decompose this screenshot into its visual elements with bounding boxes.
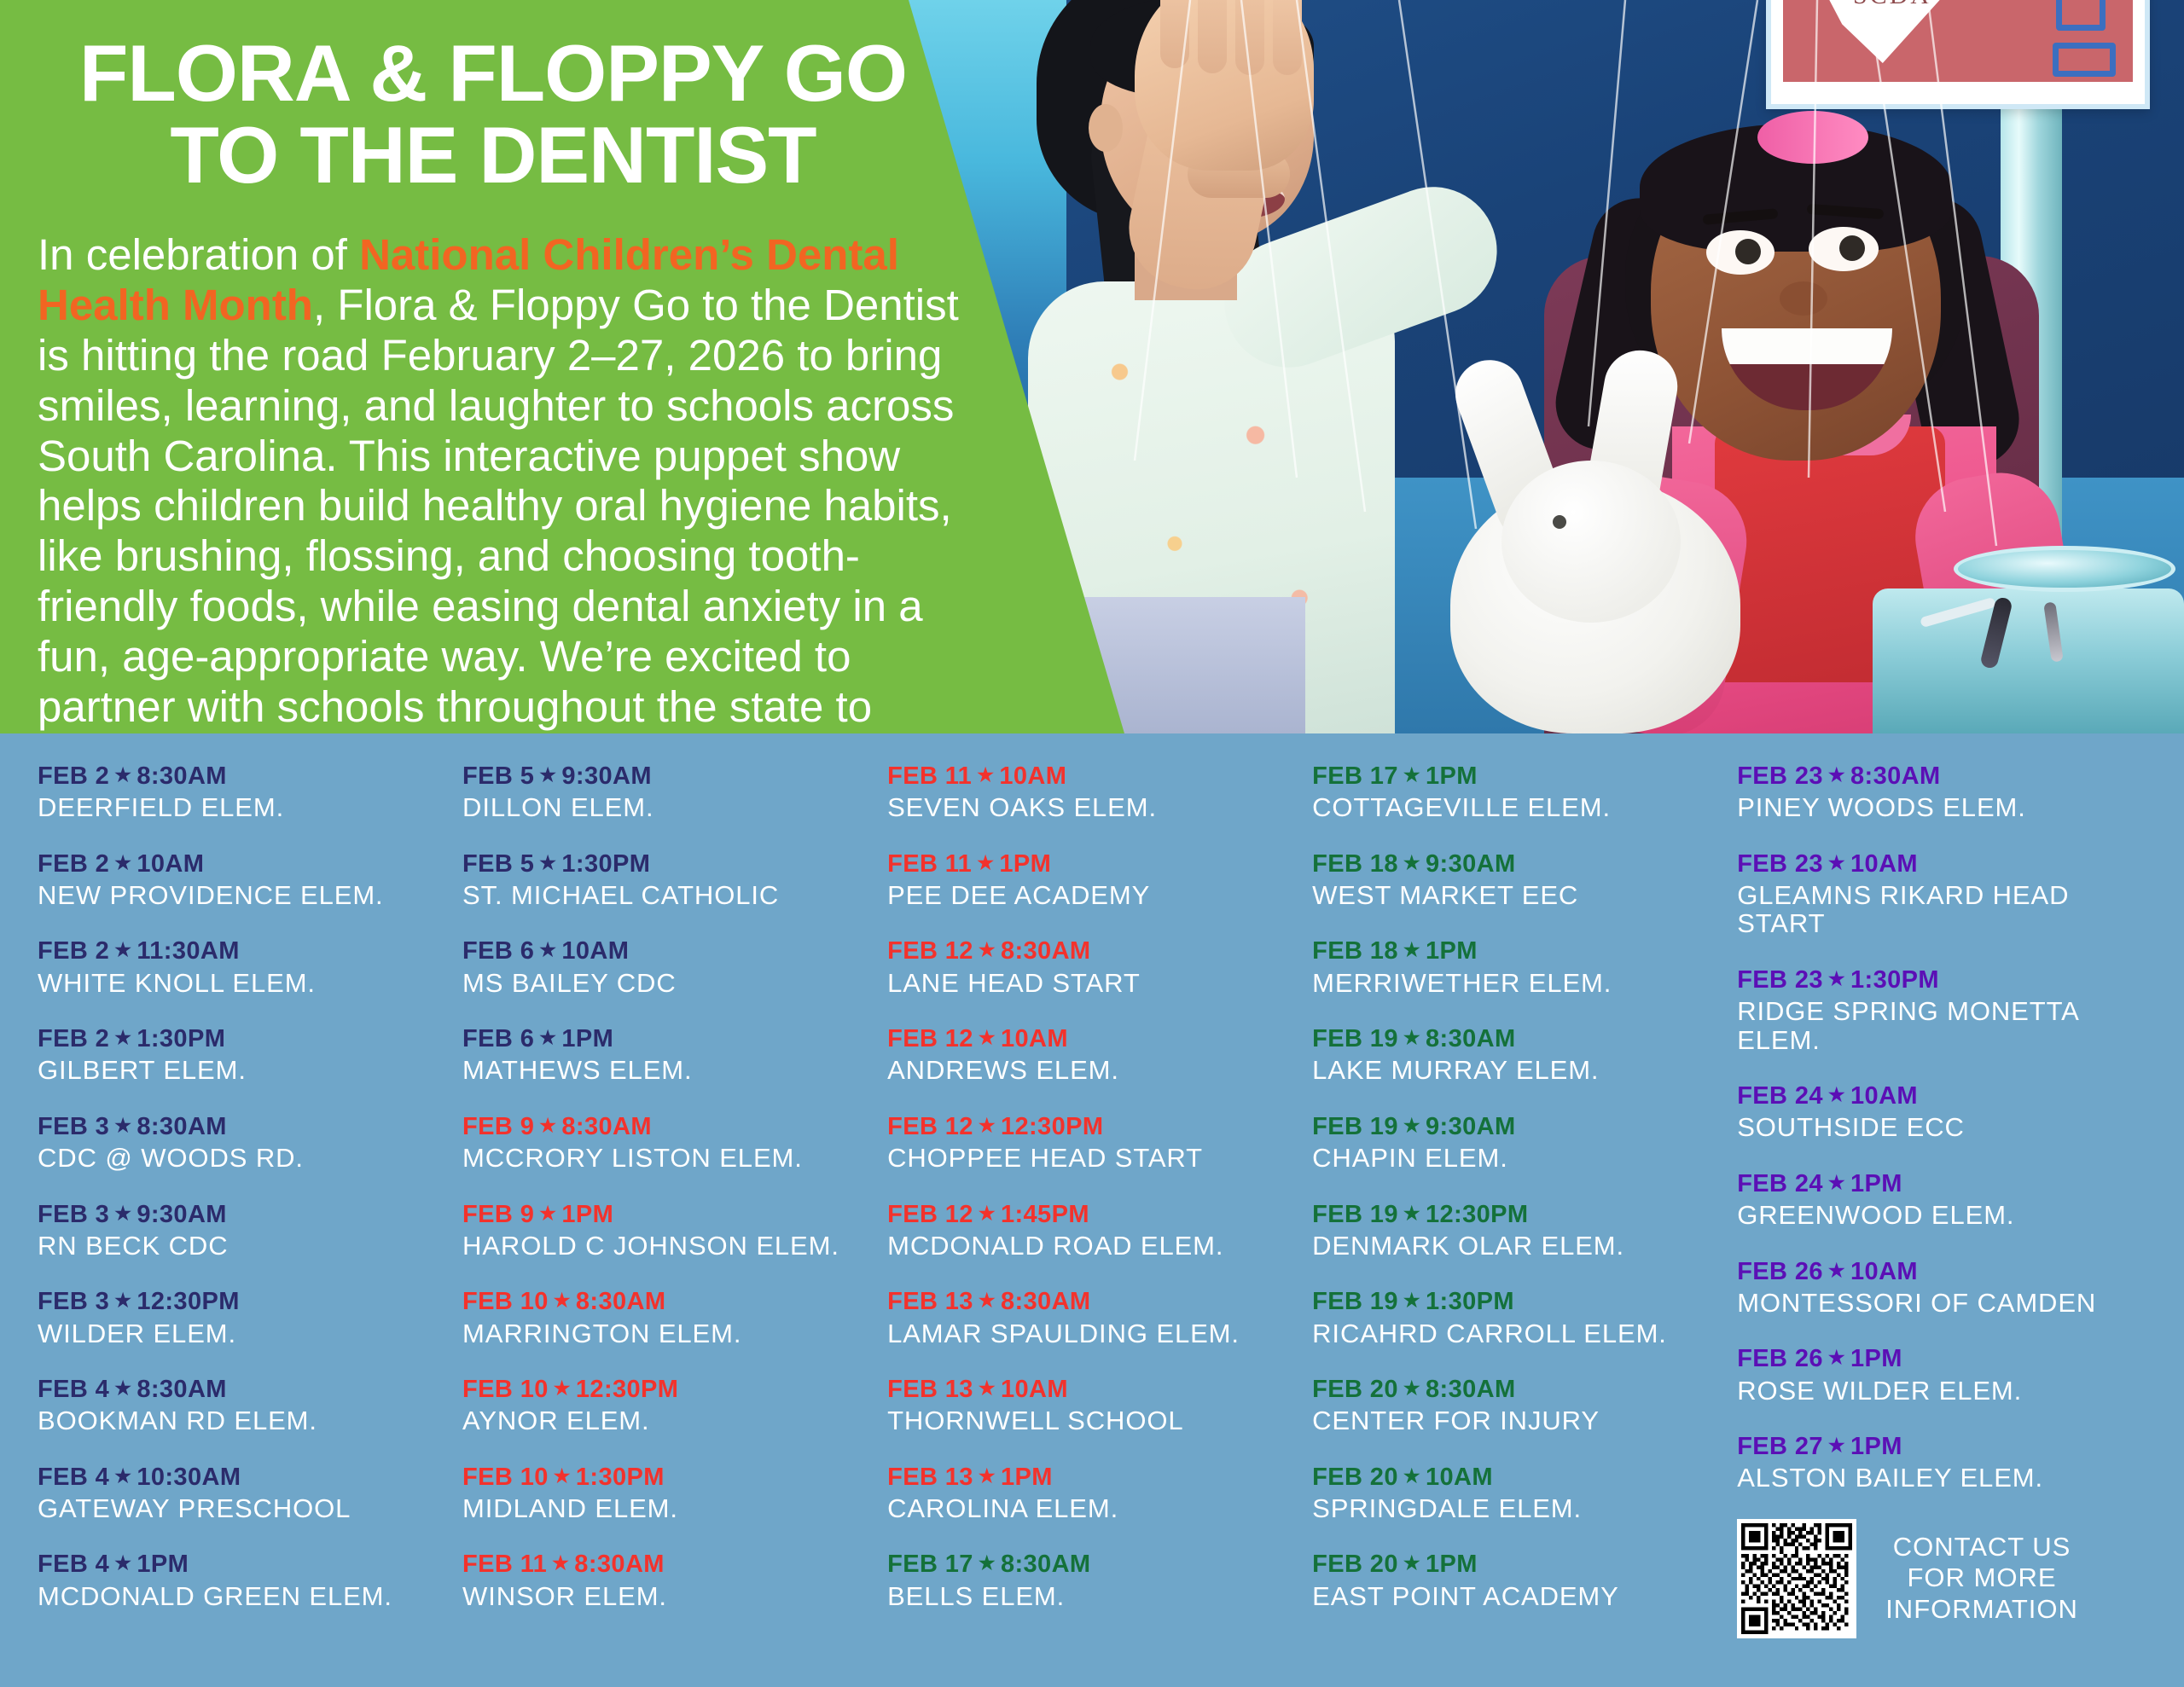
event-venue: MS BAILEY CDC: [462, 969, 863, 997]
event-datetime: FEB 13★10AM: [887, 1374, 1288, 1405]
star-separator-icon: ★: [109, 1465, 136, 1487]
event-time: 10AM: [1001, 1025, 1068, 1052]
event-date: FEB 26: [1737, 1258, 1823, 1285]
event-datetime: FEB 3★12:30PM: [38, 1286, 439, 1317]
event-datetime: FEB 4★10:30AM: [38, 1462, 439, 1493]
event-time: 9:30AM: [1426, 850, 1516, 878]
event-time: 8:30AM: [136, 1113, 227, 1140]
star-separator-icon: ★: [973, 1027, 1001, 1048]
event-time: 10AM: [999, 762, 1066, 790]
event-date: FEB 19: [1312, 1201, 1398, 1228]
event-venue: BOOKMAN RD ELEM.: [38, 1406, 439, 1435]
event-time: 8:30AM: [1001, 1551, 1091, 1578]
star-separator-icon: ★: [973, 1203, 1001, 1224]
event-venue: GREENWOOD ELEM.: [1737, 1201, 2146, 1229]
event-date: FEB 24: [1737, 1082, 1823, 1110]
event-date: FEB 4: [38, 1551, 109, 1578]
star-separator-icon: ★: [973, 1115, 1001, 1136]
event-datetime: FEB 9★1PM: [462, 1199, 863, 1230]
star-separator-icon: ★: [109, 764, 136, 786]
star-separator-icon: ★: [534, 1115, 561, 1136]
event-datetime: FEB 3★8:30AM: [38, 1111, 439, 1142]
star-separator-icon: ★: [534, 852, 561, 873]
event-date: FEB 4: [38, 1464, 109, 1491]
event-time: 8:30AM: [1426, 1376, 1516, 1403]
event-time: 1PM: [1001, 1464, 1053, 1491]
schedule-event: FEB 4★1PMMCDONALD GREEN ELEM.: [38, 1549, 439, 1610]
event-time: 8:30AM: [136, 762, 227, 790]
event-datetime: FEB 6★10AM: [462, 936, 863, 966]
event-time: 1:30PM: [576, 1464, 665, 1491]
event-venue: DEERFIELD ELEM.: [38, 793, 439, 821]
event-date: FEB 2: [38, 1025, 109, 1052]
star-separator-icon: ★: [109, 1377, 136, 1399]
event-datetime: FEB 6★1PM: [462, 1023, 863, 1054]
star-separator-icon: ★: [1398, 1377, 1426, 1399]
event-datetime: FEB 13★8:30AM: [887, 1286, 1288, 1317]
event-datetime: FEB 23★8:30AM: [1737, 761, 2146, 791]
event-datetime: FEB 19★12:30PM: [1312, 1199, 1713, 1230]
star-separator-icon: ★: [1398, 852, 1426, 873]
event-venue: RN BECK CDC: [38, 1232, 439, 1260]
star-separator-icon: ★: [109, 1290, 136, 1311]
event-time: 8:30AM: [561, 1113, 652, 1140]
event-datetime: FEB 24★1PM: [1737, 1168, 2146, 1199]
star-separator-icon: ★: [1398, 1115, 1426, 1136]
event-venue: DILLON ELEM.: [462, 793, 863, 821]
event-datetime: FEB 4★1PM: [38, 1549, 439, 1580]
schedule-event: FEB 11★8:30AMWINSOR ELEM.: [462, 1549, 863, 1610]
star-separator-icon: ★: [549, 1377, 576, 1399]
event-venue: CDC @ WOODS RD.: [38, 1144, 439, 1172]
schedule-event: FEB 5★9:30AMDILLON ELEM.: [462, 761, 863, 822]
event-venue: BELLS ELEM.: [887, 1582, 1288, 1610]
event-venue: GLEAMNS RIKARD HEAD START: [1737, 881, 2146, 938]
event-datetime: FEB 3★9:30AM: [38, 1199, 439, 1230]
schedule-event: FEB 23★1:30PMRIDGE SPRING MONETTA ELEM.: [1737, 965, 2146, 1054]
event-date: FEB 19: [1312, 1025, 1398, 1052]
event-time: 9:30AM: [1426, 1113, 1516, 1140]
event-date: FEB 23: [1737, 966, 1823, 994]
event-datetime: FEB 12★10AM: [887, 1023, 1288, 1054]
intro-text-rest: , Flora & Floppy Go to the Dentist is hi…: [38, 281, 959, 733]
event-datetime: FEB 17★1PM: [1312, 761, 1713, 791]
star-separator-icon: ★: [972, 764, 999, 786]
schedule-event: FEB 4★10:30AMGATEWAY PRESCHOOL: [38, 1462, 439, 1523]
event-time: 1PM: [1426, 937, 1478, 965]
event-date: FEB 2: [38, 850, 109, 878]
event-date: FEB 4: [38, 1376, 109, 1403]
event-datetime: FEB 10★1:30PM: [462, 1462, 863, 1493]
event-datetime: FEB 27★1PM: [1737, 1431, 2146, 1462]
contact-line-2: FOR MORE: [1885, 1562, 2078, 1594]
event-datetime: FEB 9★8:30AM: [462, 1111, 863, 1142]
event-venue: LANE HEAD START: [887, 969, 1288, 997]
event-time: 8:30AM: [1850, 762, 1941, 790]
event-time: 1PM: [1850, 1433, 1902, 1460]
event-venue: MATHEWS ELEM.: [462, 1056, 863, 1084]
schedule-event: FEB 24★1PMGREENWOOD ELEM.: [1737, 1168, 2146, 1230]
event-date: FEB 20: [1312, 1551, 1398, 1578]
event-date: FEB 9: [462, 1201, 534, 1228]
star-separator-icon: ★: [109, 1203, 136, 1224]
event-date: FEB 2: [38, 937, 109, 965]
event-time: 8:30AM: [136, 1376, 227, 1403]
event-time: 1PM: [561, 1201, 613, 1228]
event-time: 12:30PM: [576, 1376, 678, 1403]
schedule-event: FEB 2★1:30PMGILBERT ELEM.: [38, 1023, 439, 1085]
star-separator-icon: ★: [973, 1290, 1001, 1311]
event-venue: LAMAR SPAULDING ELEM.: [887, 1319, 1288, 1348]
event-time: 10:30AM: [136, 1464, 241, 1491]
event-venue: ALSTON BAILEY ELEM.: [1737, 1464, 2146, 1492]
event-date: FEB 27: [1737, 1433, 1823, 1460]
star-separator-icon: ★: [549, 1290, 576, 1311]
event-time: 12:30PM: [1426, 1201, 1528, 1228]
star-separator-icon: ★: [1398, 1203, 1426, 1224]
event-time: 8:30AM: [576, 1288, 666, 1315]
schedule-event: FEB 17★1PMCOTTAGEVILLE ELEM.: [1312, 761, 1713, 822]
event-datetime: FEB 18★1PM: [1312, 936, 1713, 966]
event-venue: WHITE KNOLL ELEM.: [38, 969, 439, 997]
event-time: 1PM: [561, 1025, 613, 1052]
event-date: FEB 18: [1312, 937, 1398, 965]
schedule-event: FEB 10★8:30AMMARRINGTON ELEM.: [462, 1286, 863, 1348]
event-venue: COTTAGEVILLE ELEM.: [1312, 793, 1713, 821]
star-separator-icon: ★: [1823, 1260, 1850, 1281]
event-venue: SEVEN OAKS ELEM.: [887, 793, 1288, 821]
star-separator-icon: ★: [109, 852, 136, 873]
event-time: 8:30AM: [1001, 937, 1091, 965]
event-time: 12:30PM: [1001, 1113, 1103, 1140]
star-separator-icon: ★: [1823, 1435, 1850, 1456]
schedule-column-5: FEB 23★8:30AMPINEY WOODS ELEM.FEB 23★10A…: [1725, 761, 2158, 1687]
event-datetime: FEB 12★1:45PM: [887, 1199, 1288, 1230]
event-venue: WILDER ELEM.: [38, 1319, 439, 1348]
event-datetime: FEB 26★10AM: [1737, 1256, 2146, 1287]
event-venue: ST. MICHAEL CATHOLIC: [462, 881, 863, 909]
event-venue: MIDLAND ELEM.: [462, 1494, 863, 1522]
schedule-column-4: FEB 17★1PMCOTTAGEVILLE ELEM.FEB 18★9:30A…: [1300, 761, 1725, 1687]
star-separator-icon: ★: [1398, 939, 1426, 960]
event-datetime: FEB 11★1PM: [887, 849, 1288, 879]
event-time: 10AM: [561, 937, 629, 965]
schedule-column-3: FEB 11★10AMSEVEN OAKS ELEM.FEB 11★1PMPEE…: [875, 761, 1300, 1687]
schedule-event: FEB 2★8:30AMDEERFIELD ELEM.: [38, 761, 439, 822]
schedule-event: FEB 19★1:30PMRICAHRD CARROLL ELEM.: [1312, 1286, 1713, 1348]
schedule-event: FEB 23★8:30AMPINEY WOODS ELEM.: [1737, 761, 2146, 822]
event-time: 1PM: [1426, 1551, 1478, 1578]
event-date: FEB 20: [1312, 1464, 1398, 1491]
event-date: FEB 13: [887, 1464, 973, 1491]
star-separator-icon: ★: [1823, 852, 1850, 873]
hero-section: SCDA: [0, 0, 2184, 733]
event-datetime: FEB 2★10AM: [38, 849, 439, 879]
event-date: FEB 12: [887, 1201, 973, 1228]
event-time: 8:30AM: [1001, 1288, 1091, 1315]
star-separator-icon: ★: [109, 939, 136, 960]
event-venue: CENTER FOR INJURY: [1312, 1406, 1713, 1435]
event-datetime: FEB 10★8:30AM: [462, 1286, 863, 1317]
event-datetime: FEB 17★8:30AM: [887, 1549, 1288, 1580]
schedule-event: FEB 10★12:30PMAYNOR ELEM.: [462, 1374, 863, 1435]
event-venue: ANDREWS ELEM.: [887, 1056, 1288, 1084]
star-separator-icon: ★: [973, 939, 1001, 960]
event-time: 1:30PM: [1850, 966, 1939, 994]
event-date: FEB 11: [887, 850, 972, 878]
event-venue: HAROLD C JOHNSON ELEM.: [462, 1232, 863, 1260]
event-datetime: FEB 12★12:30PM: [887, 1111, 1288, 1142]
event-date: FEB 13: [887, 1376, 973, 1403]
event-datetime: FEB 19★9:30AM: [1312, 1111, 1713, 1142]
event-date: FEB 5: [462, 762, 534, 790]
star-separator-icon: ★: [534, 1203, 561, 1224]
page-title: FLORA & FLOPPY GO TO THE DENTIST: [75, 32, 911, 196]
contact-line-3: INFORMATION: [1885, 1594, 2078, 1626]
event-time: 1PM: [1850, 1345, 1902, 1372]
event-date: FEB 10: [462, 1464, 549, 1491]
star-separator-icon: ★: [1398, 1027, 1426, 1048]
event-date: FEB 6: [462, 937, 534, 965]
event-venue: CHOPPEE HEAD START: [887, 1144, 1288, 1172]
star-separator-icon: ★: [109, 1115, 136, 1136]
event-venue: WINSOR ELEM.: [462, 1582, 863, 1610]
star-separator-icon: ★: [973, 1465, 1001, 1487]
event-date: FEB 13: [887, 1288, 973, 1315]
schedule-event: FEB 19★9:30AMCHAPIN ELEM.: [1312, 1111, 1713, 1173]
schedule-event: FEB 11★1PMPEE DEE ACADEMY: [887, 849, 1288, 910]
event-date: FEB 10: [462, 1376, 549, 1403]
event-time: 10AM: [136, 850, 204, 878]
event-venue: PINEY WOODS ELEM.: [1737, 793, 2146, 821]
event-datetime: FEB 23★1:30PM: [1737, 965, 2146, 995]
event-date: FEB 17: [887, 1551, 973, 1578]
schedule-event: FEB 19★8:30AMLAKE MURRAY ELEM.: [1312, 1023, 1713, 1085]
event-time: 11:30AM: [136, 937, 239, 965]
schedule-event: FEB 18★1PMMERRIWETHER ELEM.: [1312, 936, 1713, 997]
event-date: FEB 11: [462, 1551, 547, 1578]
schedule-event: FEB 13★10AMTHORNWELL SCHOOL: [887, 1374, 1288, 1435]
schedule-event: FEB 6★10AMMS BAILEY CDC: [462, 936, 863, 997]
event-venue: MCDONALD ROAD ELEM.: [887, 1232, 1288, 1260]
star-separator-icon: ★: [1823, 764, 1850, 786]
contact-line-1: CONTACT US: [1885, 1532, 2078, 1563]
event-venue: NEW PROVIDENCE ELEM.: [38, 881, 439, 909]
event-datetime: FEB 5★1:30PM: [462, 849, 863, 879]
event-datetime: FEB 11★8:30AM: [462, 1549, 863, 1580]
event-datetime: FEB 18★9:30AM: [1312, 849, 1713, 879]
event-venue: AYNOR ELEM.: [462, 1406, 863, 1435]
schedule-event: FEB 5★1:30PMST. MICHAEL CATHOLIC: [462, 849, 863, 910]
schedule-event: FEB 24★10AMSOUTHSIDE ECC: [1737, 1081, 2146, 1142]
schedule-column-1: FEB 2★8:30AMDEERFIELD ELEM.FEB 2★10AMNEW…: [26, 761, 450, 1687]
event-datetime: FEB 23★10AM: [1737, 849, 2146, 879]
star-separator-icon: ★: [1823, 968, 1850, 989]
event-datetime: FEB 20★1PM: [1312, 1549, 1713, 1580]
event-datetime: FEB 19★8:30AM: [1312, 1023, 1713, 1054]
event-venue: THORNWELL SCHOOL: [887, 1406, 1288, 1435]
event-venue: MCCRORY LISTON ELEM.: [462, 1144, 863, 1172]
star-separator-icon: ★: [1398, 764, 1426, 786]
event-date: FEB 12: [887, 1113, 973, 1140]
star-separator-icon: ★: [1823, 1172, 1850, 1193]
event-venue: WEST MARKET EEC: [1312, 881, 1713, 909]
schedule-event: FEB 26★1PMROSE WILDER ELEM.: [1737, 1343, 2146, 1405]
event-time: 9:30AM: [136, 1201, 227, 1228]
event-venue: CHAPIN ELEM.: [1312, 1144, 1713, 1172]
event-venue: GATEWAY PRESCHOOL: [38, 1494, 439, 1522]
event-date: FEB 3: [38, 1201, 109, 1228]
event-time: 9:30AM: [561, 762, 652, 790]
event-time: 10AM: [1850, 1258, 1918, 1285]
schedule-event: FEB 20★10AMSPRINGDALE ELEM.: [1312, 1462, 1713, 1523]
star-separator-icon: ★: [549, 1465, 576, 1487]
event-datetime: FEB 2★8:30AM: [38, 761, 439, 791]
schedule-event: FEB 19★12:30PMDENMARK OLAR ELEM.: [1312, 1199, 1713, 1261]
star-separator-icon: ★: [973, 1552, 1001, 1574]
event-date: FEB 10: [462, 1288, 549, 1315]
event-date: FEB 9: [462, 1113, 534, 1140]
schedule-event: FEB 6★1PMMATHEWS ELEM.: [462, 1023, 863, 1085]
star-separator-icon: ★: [109, 1027, 136, 1048]
event-time: 1PM: [136, 1551, 189, 1578]
schedule-event: FEB 27★1PMALSTON BAILEY ELEM.: [1737, 1431, 2146, 1493]
event-datetime: FEB 20★10AM: [1312, 1462, 1713, 1493]
event-time: 1:45PM: [1001, 1201, 1089, 1228]
event-time: 12:30PM: [136, 1288, 239, 1315]
schedule-event: FEB 10★1:30PMMIDLAND ELEM.: [462, 1462, 863, 1523]
schedule-event: FEB 11★10AMSEVEN OAKS ELEM.: [887, 761, 1288, 822]
event-datetime: FEB 11★10AM: [887, 761, 1288, 791]
event-date: FEB 18: [1312, 850, 1398, 878]
tour-schedule: FEB 2★8:30AMDEERFIELD ELEM.FEB 2★10AMNEW…: [0, 733, 2184, 1687]
schedule-event: FEB 12★12:30PMCHOPPEE HEAD START: [887, 1111, 1288, 1173]
star-separator-icon: ★: [534, 1027, 561, 1048]
schedule-event: FEB 26★10AMMONTESSORI OF CAMDEN: [1737, 1256, 2146, 1318]
schedule-event: FEB 17★8:30AMBELLS ELEM.: [887, 1549, 1288, 1610]
star-separator-icon: ★: [547, 1552, 574, 1574]
event-venue: PEE DEE ACADEMY: [887, 881, 1288, 909]
event-time: 8:30AM: [574, 1551, 665, 1578]
event-date: FEB 3: [38, 1288, 109, 1315]
schedule-event: FEB 4★8:30AMBOOKMAN RD ELEM.: [38, 1374, 439, 1435]
event-date: FEB 23: [1737, 762, 1823, 790]
event-venue: MERRIWETHER ELEM.: [1312, 969, 1713, 997]
event-datetime: FEB 26★1PM: [1737, 1343, 2146, 1374]
intro-text-lead: In celebration of: [38, 230, 359, 279]
event-time: 1:30PM: [1426, 1288, 1514, 1315]
event-datetime: FEB 5★9:30AM: [462, 761, 863, 791]
contact-block: CONTACT US FOR MORE INFORMATION: [1737, 1519, 2146, 1638]
event-date: FEB 23: [1737, 850, 1823, 878]
event-time: 10AM: [1001, 1376, 1068, 1403]
star-separator-icon: ★: [1398, 1465, 1426, 1487]
schedule-column-2: FEB 5★9:30AMDILLON ELEM.FEB 5★1:30PMST. …: [450, 761, 875, 1687]
schedule-event: FEB 3★12:30PMWILDER ELEM.: [38, 1286, 439, 1348]
event-date: FEB 26: [1737, 1345, 1823, 1372]
event-time: 8:30AM: [1426, 1025, 1516, 1052]
event-venue: MARRINGTON ELEM.: [462, 1319, 863, 1348]
event-venue: SPRINGDALE ELEM.: [1312, 1494, 1713, 1522]
schedule-event: FEB 12★8:30AMLANE HEAD START: [887, 936, 1288, 997]
schedule-event: FEB 2★11:30AMWHITE KNOLL ELEM.: [38, 936, 439, 997]
event-datetime: FEB 2★11:30AM: [38, 936, 439, 966]
contact-text: CONTACT US FOR MORE INFORMATION: [1885, 1532, 2078, 1626]
event-date: FEB 3: [38, 1113, 109, 1140]
event-datetime: FEB 20★8:30AM: [1312, 1374, 1713, 1405]
schedule-event: FEB 20★1PMEAST POINT ACADEMY: [1312, 1549, 1713, 1610]
event-date: FEB 5: [462, 850, 534, 878]
event-time: 10AM: [1850, 1082, 1918, 1110]
event-datetime: FEB 12★8:30AM: [887, 936, 1288, 966]
star-separator-icon: ★: [973, 1377, 1001, 1399]
event-date: FEB 19: [1312, 1113, 1398, 1140]
event-venue: GILBERT ELEM.: [38, 1056, 439, 1084]
schedule-event: FEB 20★8:30AMCENTER FOR INJURY: [1312, 1374, 1713, 1435]
event-time: 1:30PM: [136, 1025, 225, 1052]
qr-code[interactable]: [1737, 1519, 1856, 1638]
schedule-event: FEB 18★9:30AMWEST MARKET EEC: [1312, 849, 1713, 910]
event-date: FEB 24: [1737, 1170, 1823, 1197]
event-time: 1PM: [1850, 1170, 1902, 1197]
event-date: FEB 11: [887, 762, 972, 790]
schedule-event: FEB 3★9:30AMRN BECK CDC: [38, 1199, 439, 1261]
event-venue: ROSE WILDER ELEM.: [1737, 1377, 2146, 1405]
event-venue: RICAHRD CARROLL ELEM.: [1312, 1319, 1713, 1348]
schedule-event: FEB 12★10AMANDREWS ELEM.: [887, 1023, 1288, 1085]
event-date: FEB 6: [462, 1025, 534, 1052]
event-datetime: FEB 10★12:30PM: [462, 1374, 863, 1405]
schedule-event: FEB 3★8:30AMCDC @ WOODS RD.: [38, 1111, 439, 1173]
event-date: FEB 17: [1312, 762, 1398, 790]
event-time: 1PM: [999, 850, 1051, 878]
event-date: FEB 19: [1312, 1288, 1398, 1315]
schedule-event: FEB 13★1PMCAROLINA ELEM.: [887, 1462, 1288, 1523]
event-venue: RIDGE SPRING MONETTA ELEM.: [1737, 997, 2146, 1054]
star-separator-icon: ★: [534, 764, 561, 786]
schedule-event: FEB 13★8:30AMLAMAR SPAULDING ELEM.: [887, 1286, 1288, 1348]
event-time: 10AM: [1850, 850, 1918, 878]
intro-paragraph: In celebration of National Children’s De…: [38, 230, 985, 733]
event-datetime: FEB 13★1PM: [887, 1462, 1288, 1493]
star-separator-icon: ★: [972, 852, 999, 873]
star-separator-icon: ★: [1823, 1347, 1850, 1368]
star-separator-icon: ★: [534, 939, 561, 960]
event-venue: CAROLINA ELEM.: [887, 1494, 1288, 1522]
event-venue: MCDONALD GREEN ELEM.: [38, 1582, 439, 1610]
event-datetime: FEB 24★10AM: [1737, 1081, 2146, 1111]
event-datetime: FEB 4★8:30AM: [38, 1374, 439, 1405]
event-datetime: FEB 19★1:30PM: [1312, 1286, 1713, 1317]
poster-root: SCDA: [0, 0, 2184, 1687]
event-time: 10AM: [1426, 1464, 1493, 1491]
event-date: FEB 20: [1312, 1376, 1398, 1403]
event-date: FEB 12: [887, 937, 973, 965]
star-separator-icon: ★: [1398, 1290, 1426, 1311]
event-datetime: FEB 2★1:30PM: [38, 1023, 439, 1054]
schedule-event: FEB 9★8:30AMMCCRORY LISTON ELEM.: [462, 1111, 863, 1173]
event-venue: MONTESSORI OF CAMDEN: [1737, 1289, 2146, 1317]
star-separator-icon: ★: [1823, 1084, 1850, 1105]
schedule-event: FEB 23★10AMGLEAMNS RIKARD HEAD START: [1737, 849, 2146, 938]
star-separator-icon: ★: [109, 1552, 136, 1574]
event-time: 1PM: [1426, 762, 1478, 790]
event-venue: EAST POINT ACADEMY: [1312, 1582, 1713, 1610]
schedule-event: FEB 12★1:45PMMCDONALD ROAD ELEM.: [887, 1199, 1288, 1261]
schedule-event: FEB 9★1PMHAROLD C JOHNSON ELEM.: [462, 1199, 863, 1261]
event-venue: DENMARK OLAR ELEM.: [1312, 1232, 1713, 1260]
star-separator-icon: ★: [1398, 1552, 1426, 1574]
